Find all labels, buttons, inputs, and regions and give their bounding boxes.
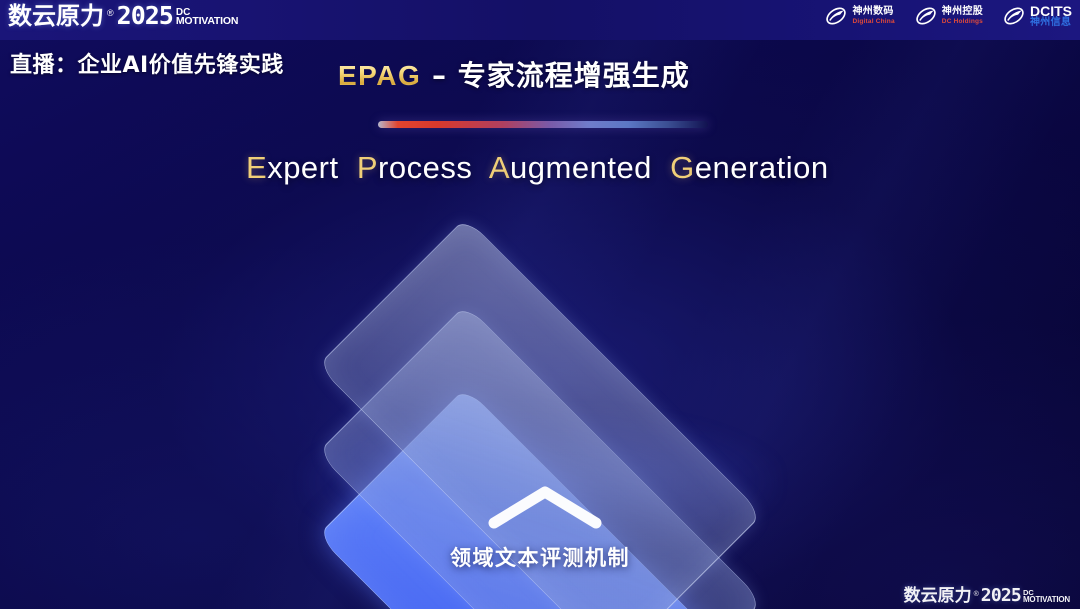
title-acronym: EPAG [338,60,421,91]
partner-logo-digital-china: 神州数码 Digital China [825,5,894,27]
watermark-registered-mark: ® [974,591,979,598]
subtitle-word-expert: Expert [246,150,339,185]
subtitle-cap-g: G [670,150,695,185]
subtitle-rest-a: ugmented [510,150,652,185]
partner-name-en: DC Holdings [942,18,983,25]
brand-name-cn: 数云原力 [8,4,104,28]
partner-text: 神州控股 DC Holdings [942,7,983,25]
watermark-motivation-text: MOTIVATION [1023,596,1070,604]
brand-motivation-text: MOTIVATION [176,17,238,27]
subtitle-expansion: Expert Process Augmented Generation [246,150,829,186]
live-broadcast-label: 直播：企业AI价值先锋实践 [10,47,284,79]
subtitle-cap-e: E [246,150,267,185]
subtitle-cap-p: P [357,150,378,185]
partner-name-en: Digital China [852,18,894,25]
title-dash: – [421,59,458,92]
subtitle-word-process: Process [357,150,473,185]
subtitle-rest-p: rocess [378,150,472,185]
partner-name-cn: 神州控股 [942,7,983,18]
partner-name-cn: 神州信息 [1030,18,1072,29]
title-divider [378,121,708,128]
brand-dc-motivation: DC MOTIVATION [176,8,238,28]
footer-watermark-logo: 数云原力 ® 2025 DC MOTIVATION [904,587,1070,605]
partner-logo-dc-holdings: 神州控股 DC Holdings [915,5,983,27]
swoosh-icon [825,5,847,27]
partner-text: 神州数码 Digital China [852,7,894,25]
brand-registered-mark: ® [107,9,114,18]
partner-name-en: DCITS [1030,4,1072,18]
subtitle-rest-g: eneration [695,150,829,185]
layer-stack-diagram: 领域文本评测机制 Dynamic MOE 长文本记忆 三类语义建模模块 [0,212,1080,592]
brand-logo: 数云原力 ® 2025 DC MOTIVATION [8,3,238,28]
partner-name-cn: 神州数码 [852,7,894,18]
page-title: EPAG – 专家流程增强生成 [338,54,690,94]
layer-label-top: 领域文本评测机制 [0,542,1080,572]
swoosh-icon [915,5,937,27]
partner-logo-group: 神州数码 Digital China 神州控股 DC Holdings [825,4,1072,29]
slide-canvas: 数云原力 ® 2025 DC MOTIVATION 神州数码 Digital C… [0,0,1080,609]
subtitle-cap-a: A [489,150,510,185]
subtitle-word-augmented: Augmented [489,150,652,185]
watermark-dc-motivation: DC MOTIVATION [1023,589,1070,605]
subtitle-word-generation: Generation [670,150,828,185]
chevron-up-icon [487,484,603,530]
brand-year: 2025 [117,3,173,28]
watermark-year: 2025 [981,587,1021,605]
partner-text: DCITS 神州信息 [1030,4,1072,29]
title-chinese: 专家流程增强生成 [458,59,690,92]
swoosh-icon [1003,5,1025,27]
partner-logo-dcits: DCITS 神州信息 [1003,4,1072,29]
watermark-name-cn: 数云原力 [904,588,972,605]
subtitle-rest-e: xpert [267,150,338,185]
header-band: 数云原力 ® 2025 DC MOTIVATION 神州数码 Digital C… [0,0,1080,40]
